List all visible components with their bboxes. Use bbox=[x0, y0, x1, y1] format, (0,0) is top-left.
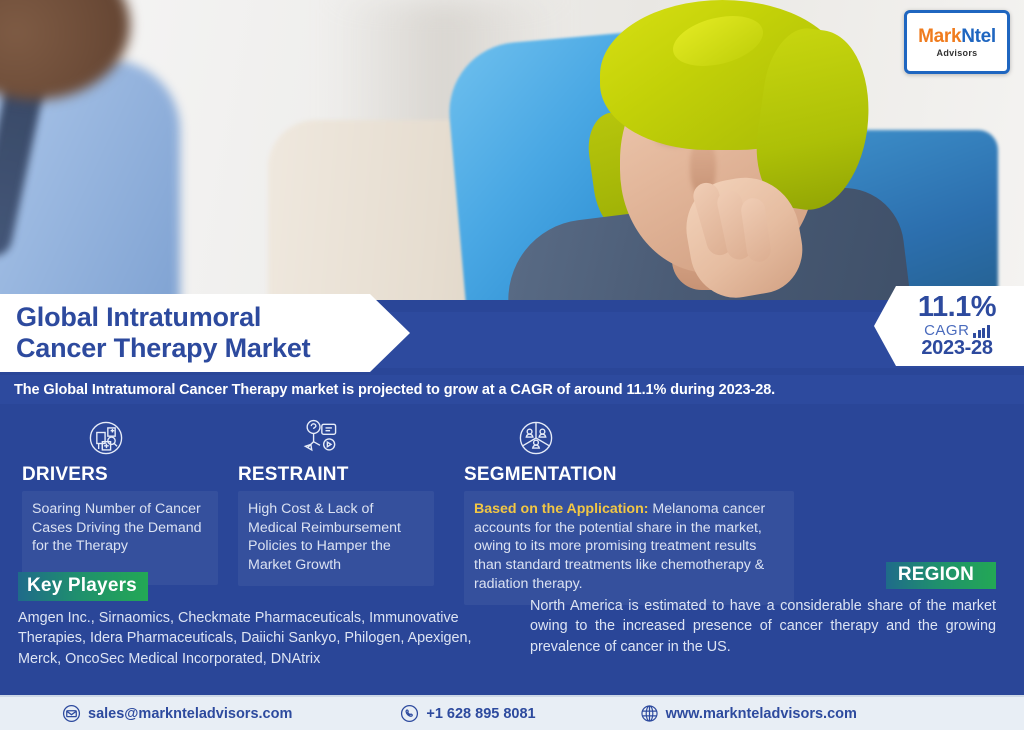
cagr-value: 11.1% bbox=[918, 293, 996, 322]
page-title: Global Intratumoral Cancer Therapy Marke… bbox=[0, 302, 310, 364]
header-photo bbox=[0, 0, 1024, 300]
logo-subtitle: Advisors bbox=[937, 48, 978, 58]
drivers-heading: DRIVERS bbox=[22, 464, 218, 486]
phone-icon bbox=[400, 704, 419, 723]
brand-logo[interactable]: MarkNtel Advisors bbox=[904, 10, 1010, 74]
key-players-body: Amgen Inc., Sirnaomics, Checkmate Pharma… bbox=[18, 608, 516, 669]
page-title-line2: Cancer Therapy Market bbox=[16, 333, 310, 364]
segmentation-heading: SEGMENTATION bbox=[464, 464, 794, 486]
segmentation-body-highlight: Based on the Application: bbox=[474, 501, 648, 517]
drivers-icon-row bbox=[22, 416, 218, 462]
segmentation-pie-people-icon bbox=[514, 416, 558, 460]
region-tag-row: REGION bbox=[530, 562, 996, 589]
logo-wordmark: MarkNtel bbox=[918, 27, 996, 46]
drivers-body: Soaring Number of Cancer Cases Driving t… bbox=[22, 491, 218, 585]
footer-email-text: sales@marknteladvisors.com bbox=[88, 706, 292, 722]
cagr-label: CAGR bbox=[924, 323, 969, 338]
logo-mark-text: Mark bbox=[918, 26, 961, 47]
section-restraint: RESTRAINT High Cost & Lack of Medical Re… bbox=[238, 416, 434, 586]
restraint-icon-row bbox=[238, 416, 434, 462]
footer-website-text: www.marknteladvisors.com bbox=[666, 706, 857, 722]
segmentation-icon-row bbox=[464, 416, 794, 462]
subtitle-strip: The Global Intratumoral Cancer Therapy m… bbox=[0, 375, 1024, 404]
globe-icon bbox=[640, 704, 659, 723]
envelope-icon bbox=[62, 704, 81, 723]
footer-email[interactable]: sales@marknteladvisors.com bbox=[62, 704, 292, 723]
page-title-line1: Global Intratumoral bbox=[16, 302, 310, 333]
section-key-players: Key Players Amgen Inc., Sirnaomics, Chec… bbox=[18, 572, 516, 669]
region-body: North America is estimated to have a con… bbox=[530, 596, 996, 657]
cagr-label-row: CAGR bbox=[924, 323, 990, 338]
subtitle-text: The Global Intratumoral Cancer Therapy m… bbox=[0, 382, 775, 398]
footer-website[interactable]: www.marknteladvisors.com bbox=[640, 704, 857, 723]
body-area: DRIVERS Soaring Number of Cancer Cases D… bbox=[0, 404, 1024, 697]
policy-cost-icon bbox=[298, 416, 342, 460]
restraint-heading: RESTRAINT bbox=[238, 464, 434, 486]
footer-bar: sales@marknteladvisors.com +1 628 895 80… bbox=[0, 695, 1024, 730]
logo-ntel-text: Ntel bbox=[961, 26, 996, 47]
section-drivers: DRIVERS Soaring Number of Cancer Cases D… bbox=[22, 416, 218, 585]
title-banner: Global Intratumoral Cancer Therapy Marke… bbox=[0, 294, 410, 372]
key-players-tag: Key Players bbox=[18, 572, 148, 601]
footer-phone-text: +1 628 895 8081 bbox=[426, 706, 535, 722]
footer-phone[interactable]: +1 628 895 8081 bbox=[400, 704, 535, 723]
cagr-badge: 11.1% CAGR 2023-28 bbox=[874, 286, 1024, 366]
medical-research-circle-icon bbox=[84, 416, 128, 460]
region-tag: REGION bbox=[886, 562, 996, 589]
cagr-years: 2023-28 bbox=[921, 338, 992, 359]
infographic-canvas: MarkNtel Advisors Global Intratumoral Ca… bbox=[0, 0, 1024, 730]
section-region: REGION North America is estimated to hav… bbox=[530, 562, 996, 657]
